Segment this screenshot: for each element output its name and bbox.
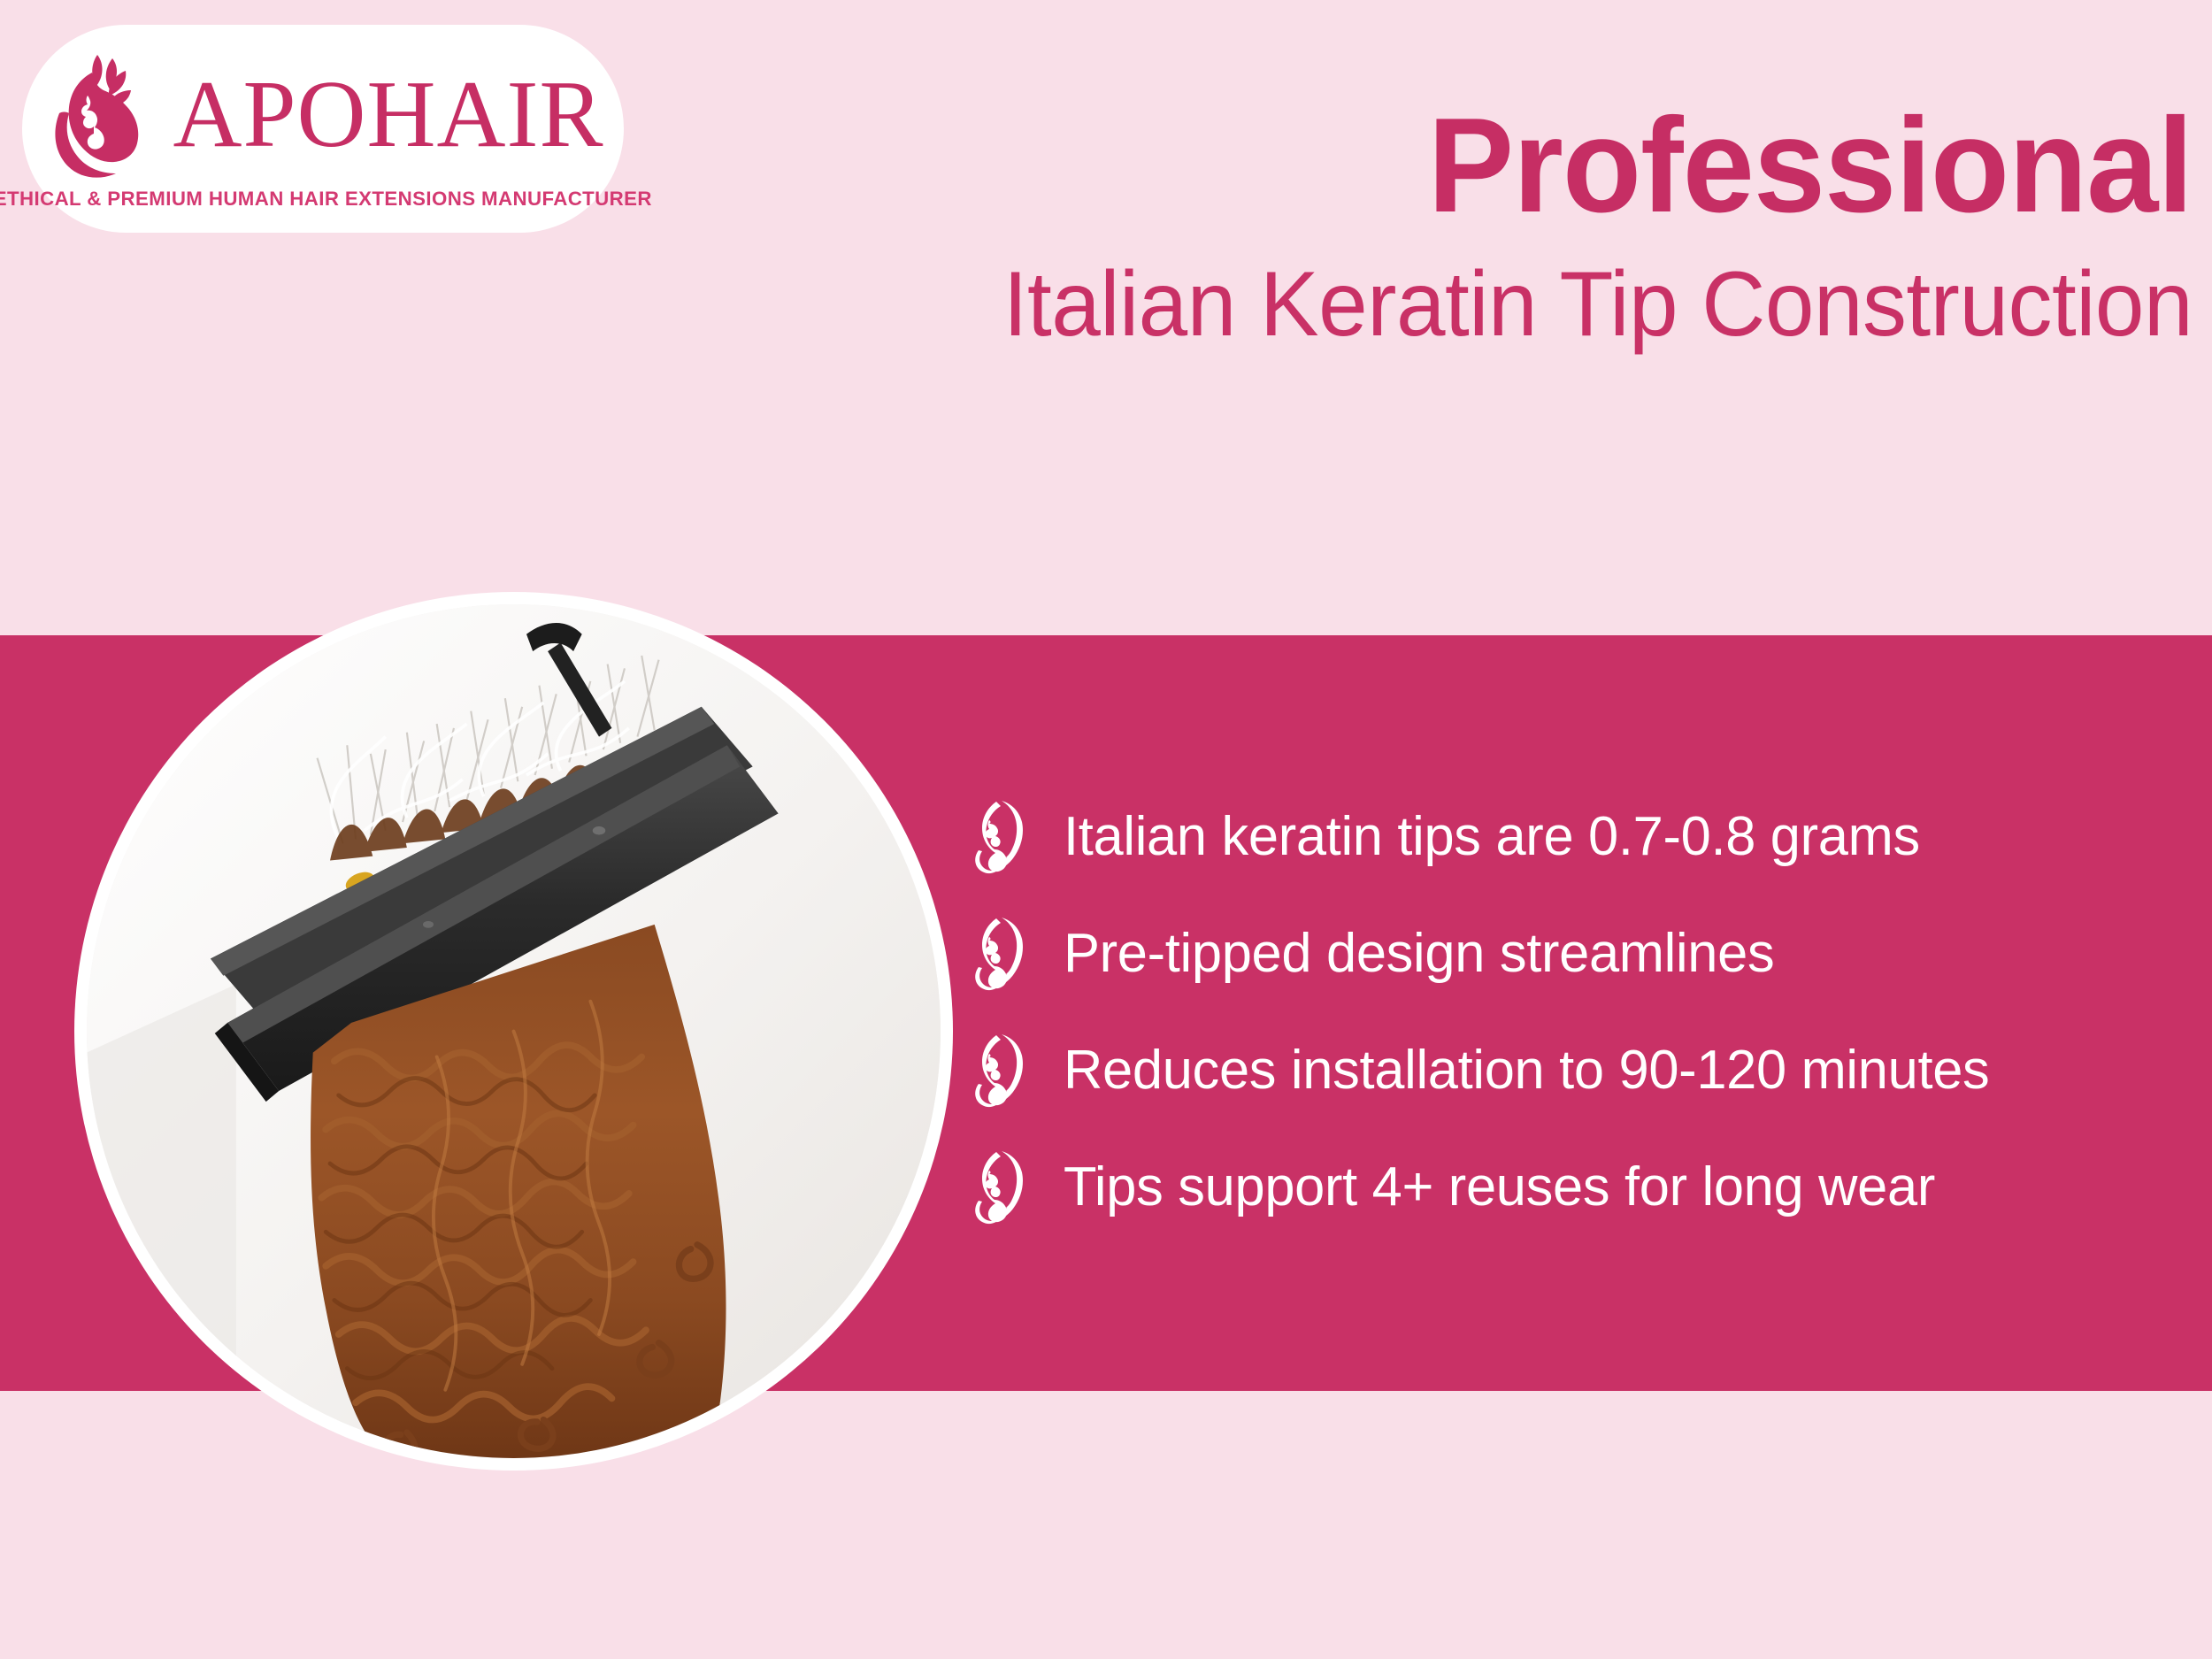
hair-extension-photo-illustration (87, 604, 941, 1458)
hair-extension-photo (87, 604, 941, 1458)
list-item-label: Reduces installation to 90-120 minutes (1064, 1041, 1989, 1101)
woman-hair-silhouette-icon (972, 799, 1026, 875)
infographic-poster: APOHAIR ETHICAL & PREMIUM HUMAN HAIR EXT… (0, 0, 2212, 1659)
woman-hair-silhouette-icon (972, 1033, 1026, 1109)
woman-hair-silhouette-icon (972, 916, 1026, 992)
list-item-label: Pre-tipped design streamlines (1064, 924, 1774, 984)
brand-tagline: ETHICAL & PREMIUM HUMAN HAIR EXTENSIONS … (0, 188, 652, 211)
list-item: Italian keratin tips are 0.7-0.8 grams (972, 779, 2175, 895)
list-item: Tips support 4+ reuses for long wear (972, 1129, 2175, 1246)
list-item-label: Tips support 4+ reuses for long wear (1064, 1157, 1935, 1217)
feature-list: Italian keratin tips are 0.7-0.8 grams P… (972, 779, 2175, 1246)
woman-hair-silhouette-icon (972, 1149, 1026, 1225)
brand-logo-card: APOHAIR ETHICAL & PREMIUM HUMAN HAIR EXT… (22, 25, 624, 233)
woman-hair-silhouette-icon (42, 50, 165, 180)
list-item: Pre-tipped design streamlines (972, 895, 2175, 1012)
brand-wordmark: APOHAIR (173, 67, 603, 163)
heading-block: Professional Italian Keratin Tip Constru… (635, 97, 2193, 355)
list-item: Reduces installation to 90-120 minutes (972, 1012, 2175, 1129)
brand-logo-row: APOHAIR (42, 50, 603, 180)
page-title: Professional (697, 97, 2193, 234)
page-subtitle: Italian Keratin Tip Construction (697, 254, 2193, 355)
list-item-label: Italian keratin tips are 0.7-0.8 grams (1064, 807, 1920, 867)
